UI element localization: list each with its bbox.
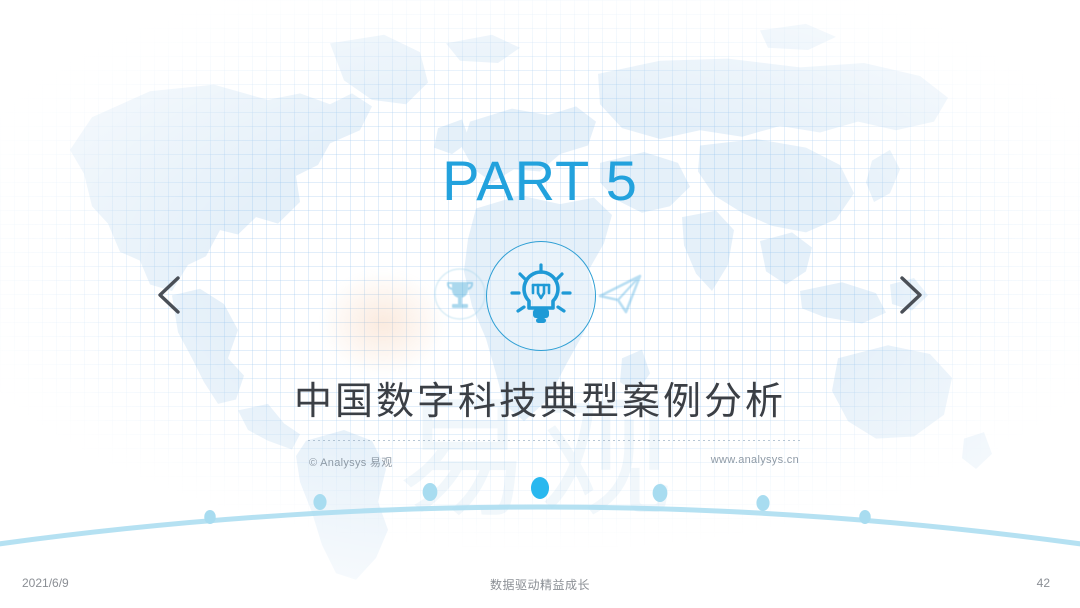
paper-plane-icon[interactable] (592, 266, 648, 327)
progress-dot[interactable] (859, 510, 870, 524)
trophy-icon[interactable] (432, 266, 488, 327)
presentation-slide: 易观 PART 5 (0, 0, 1080, 608)
footer-tagline: 数据驱动精益成长 (0, 576, 1080, 593)
icon-carousel (0, 236, 1080, 356)
part-label: PART 5 (0, 148, 1080, 213)
dotted-divider (308, 440, 800, 441)
progress-dot[interactable] (313, 494, 326, 510)
footer-page-number: 42 (1037, 576, 1050, 590)
progress-dot[interactable] (756, 495, 769, 511)
progress-dot[interactable] (204, 510, 215, 524)
website-url: www.analysys.cn (711, 454, 799, 466)
slide-footer: 2021/6/9 数据驱动精益成长 42 (0, 564, 1080, 608)
lightbulb-idea-icon[interactable] (486, 241, 596, 351)
page-title: 中国数字科技典型案例分析 (0, 370, 1080, 425)
copyright-text: © Analysys 易观 (309, 454, 393, 470)
